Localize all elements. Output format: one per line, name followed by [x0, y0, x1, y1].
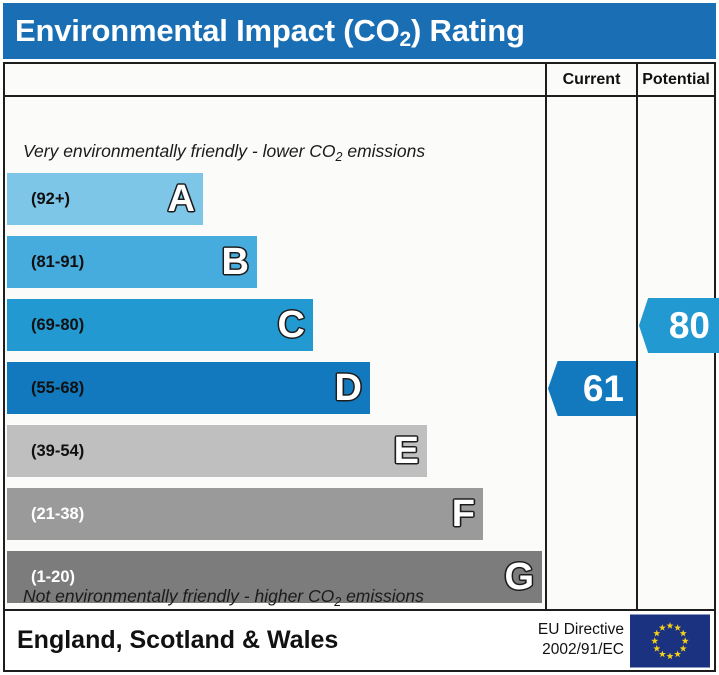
band-letter-g: G	[504, 558, 534, 596]
rating-arrow-potential: 80	[639, 298, 719, 353]
band-letter-e: E	[394, 432, 419, 470]
page-title-main: Environmental Impact (CO	[15, 13, 400, 48]
caption-top-subscript: 2	[336, 150, 343, 164]
column-header-current: Current	[545, 64, 636, 95]
band-row-d: (55-68)D	[7, 362, 370, 414]
band-letter-f: F	[452, 495, 475, 533]
band-row-b: (81-91)B	[7, 236, 257, 288]
column-divider-current	[545, 97, 547, 609]
band-letter-a: A	[168, 180, 195, 218]
caption-top: Very environmentally friendly - lower CO…	[23, 141, 425, 162]
band-range-d: (55-68)	[7, 379, 84, 398]
band-range-f: (21-38)	[7, 505, 84, 524]
band-letter-b: B	[222, 243, 249, 281]
eu-star	[682, 637, 689, 644]
band-row-c: (69-80)C	[7, 299, 313, 351]
band-letter-c: C	[278, 306, 305, 344]
eu-directive-line-2: 2002/91/EC	[538, 641, 624, 662]
eu-star	[666, 652, 673, 659]
caption-bottom-pre: Not environmentally friendly - higher CO	[23, 586, 334, 606]
caption-bottom-subscript: 2	[334, 595, 341, 609]
band-range-c: (69-80)	[7, 316, 84, 335]
eu-flag-icon	[630, 614, 710, 667]
eu-directive-line-1: EU Directive	[538, 620, 624, 641]
band-range-b: (81-91)	[7, 253, 84, 272]
footer-region-label: England, Scotland & Wales	[5, 626, 338, 655]
page-title-subscript: 2	[400, 28, 411, 51]
rating-arrow-current: 61	[548, 361, 636, 416]
caption-top-pre: Very environmentally friendly - lower CO	[23, 141, 336, 161]
eu-star	[666, 622, 673, 629]
eu-star	[653, 629, 660, 636]
band-range-a: (92+)	[7, 190, 70, 209]
epc-environmental-impact-chart: Environmental Impact (CO2) Rating Curren…	[0, 0, 719, 675]
caption-bottom-post: emissions	[341, 586, 424, 606]
eu-star	[680, 644, 687, 651]
eu-star	[674, 624, 681, 631]
eu-star	[659, 624, 666, 631]
band-row-a: (92+)A	[7, 173, 203, 225]
caption-bottom: Not environmentally friendly - higher CO…	[23, 586, 424, 607]
eu-flag-stars-svg	[630, 614, 710, 667]
page-title: Environmental Impact (CO2) Rating	[3, 13, 525, 49]
footer-eu-directive: EU Directive 2002/91/EC	[538, 620, 624, 662]
band-range-g: (1-20)	[7, 568, 75, 587]
column-divider-potential	[636, 97, 638, 609]
eu-star	[680, 629, 687, 636]
bands-column: Very environmentally friendly - lower CO…	[5, 97, 545, 609]
eu-star	[651, 637, 658, 644]
footer-bar: England, Scotland & Wales EU Directive 2…	[3, 611, 716, 672]
eu-star	[659, 650, 666, 657]
ratings-table: Current Potential Very environmentally f…	[3, 62, 716, 611]
band-row-f: (21-38)F	[7, 488, 483, 540]
eu-star	[674, 650, 681, 657]
eu-star	[653, 644, 660, 651]
column-header-potential: Potential	[636, 64, 714, 95]
caption-top-post: emissions	[342, 141, 425, 161]
rating-value-current: 61	[583, 370, 624, 407]
band-row-e: (39-54)E	[7, 425, 427, 477]
band-range-e: (39-54)	[7, 442, 84, 461]
band-letter-d: D	[335, 369, 362, 407]
chart-title-bar: Environmental Impact (CO2) Rating	[3, 3, 716, 59]
column-header-row: Current Potential	[5, 64, 714, 97]
rating-value-potential: 80	[669, 307, 710, 344]
page-title-tail: ) Rating	[411, 13, 525, 48]
